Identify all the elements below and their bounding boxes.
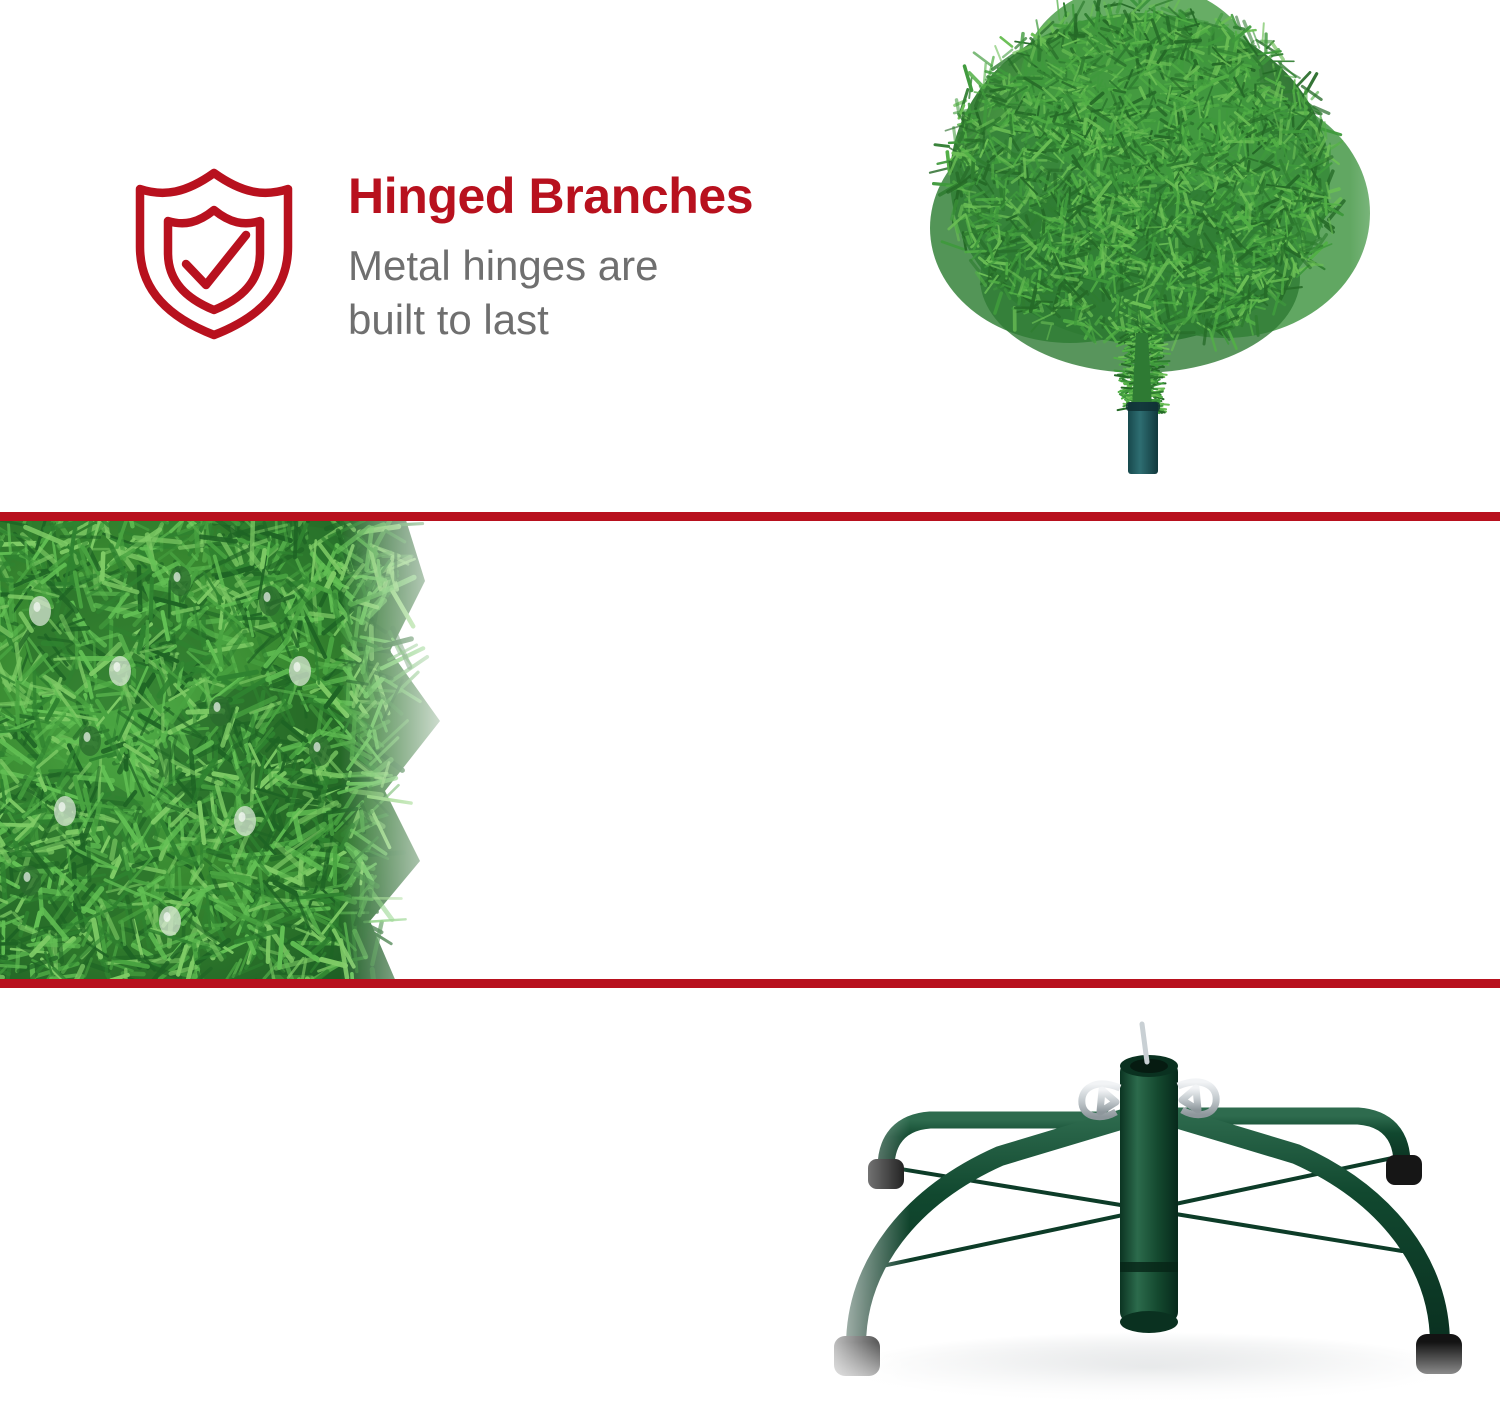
section-divider [0,979,1500,988]
feature-description-line: Metal hinges are [348,239,753,293]
feature-title: Hinged Branches [348,170,753,223]
feature-description-line: built to last [348,293,753,347]
product-feature-infographic: Hinged Branches Metal hinges are built t… [0,0,1500,1412]
feature-text-hinged-branches: Hinged Branches Metal hinges are built t… [348,170,753,347]
pvc-tips-closeup-photo [0,521,490,979]
shield-check-icon [128,163,300,346]
section-divider [0,512,1500,521]
christmas-tree-branch-photo [840,0,1500,498]
feature-description: Metal hinges are built to last [348,239,753,347]
feature-panel-sturdy-base: Sturdy Base A reliable metal stand for y… [0,988,1500,1412]
metal-tree-stand-photo [790,1016,1500,1412]
feature-panel-pvc-tips: PVC Tips Flame-retardant and easy to flu… [0,521,1500,979]
feature-panel-hinged-branches: Hinged Branches Metal hinges are built t… [0,0,1500,512]
